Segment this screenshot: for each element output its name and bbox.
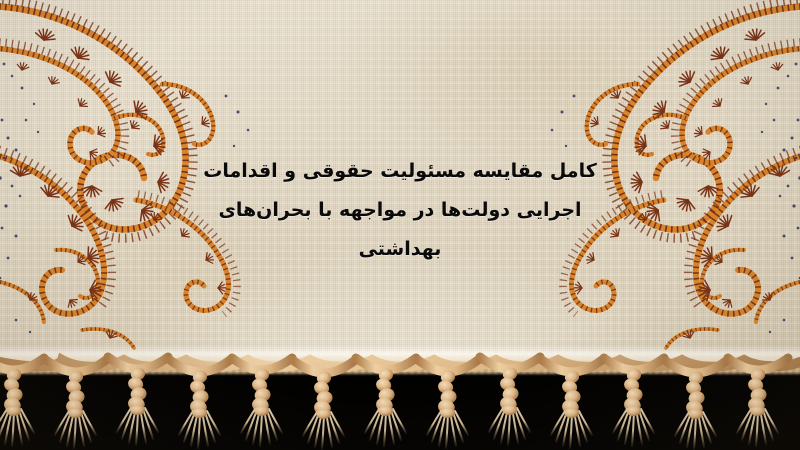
linen-cloth xyxy=(0,0,800,372)
tassel-row xyxy=(0,357,788,449)
title-card-canvas: کامل مقایسه مسئولیت حقوقی و اقدامات اجرا… xyxy=(0,0,800,450)
tassel-fringe xyxy=(0,352,800,450)
weave-highlight-texture xyxy=(0,0,800,372)
